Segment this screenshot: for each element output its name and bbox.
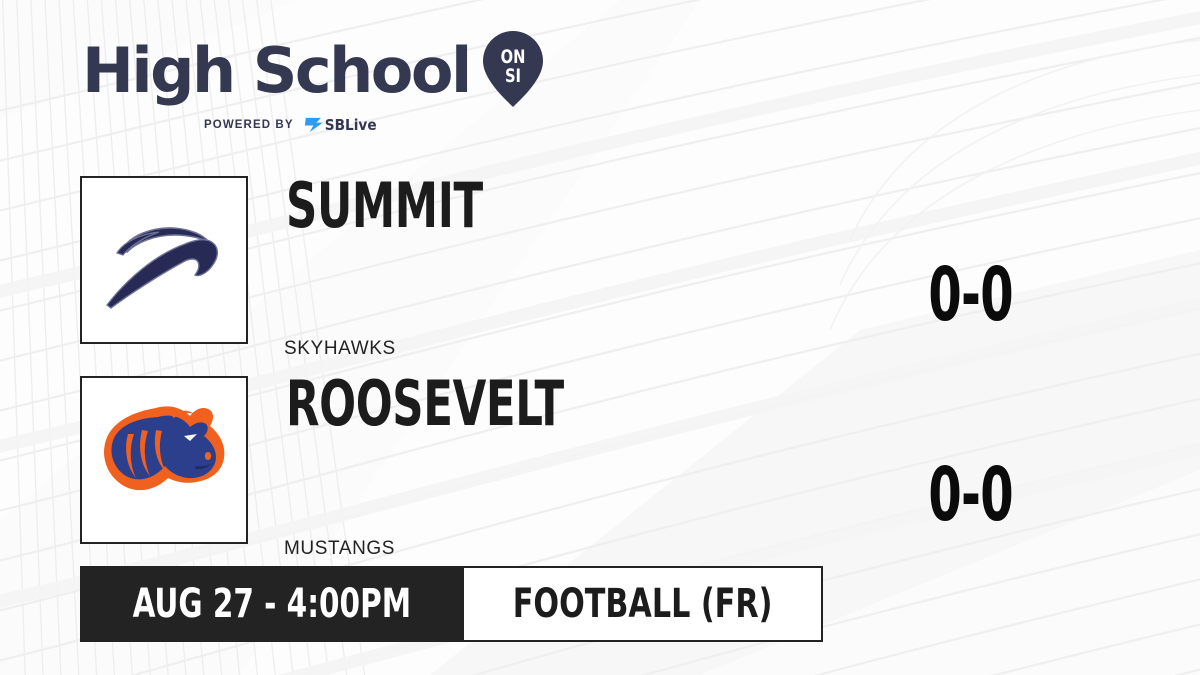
team-record-home: 0-0 — [928, 258, 1012, 332]
game-datetime-block: AUG 27 - 4:00PM — [80, 566, 464, 642]
team-name-home: SUMMIT — [286, 175, 483, 237]
team-mascot-home: SKYHAWKS — [284, 338, 396, 360]
mustang-logo-icon — [98, 400, 230, 520]
powered-by-row: POWERED BY SBLive — [204, 115, 544, 134]
brand-title: High School — [82, 41, 470, 102]
game-datetime-text: AUG 27 - 4:00PM — [133, 581, 412, 627]
team-name-away: ROOSEVELT — [286, 373, 564, 435]
powered-by-label: POWERED BY — [204, 119, 294, 131]
game-sport-block: FOOTBALL (FR) — [464, 566, 823, 642]
sblive-logo: SBLive — [302, 115, 408, 134]
brand-header: High School ON SI POWERED BY SBLive — [82, 34, 544, 134]
team-record-away: 0-0 — [928, 458, 1012, 532]
on-si-pin-icon: ON SI — [482, 30, 544, 108]
team-mascot-away: MUSTANGS — [284, 538, 395, 560]
pin-label-bottom: SI — [505, 66, 521, 87]
skyhawk-logo-icon — [99, 205, 229, 315]
team-logo-mustang — [80, 376, 248, 544]
matchup-graphic: High School ON SI POWERED BY SBLive — [0, 0, 1200, 675]
game-sport-text: FOOTBALL (FR) — [512, 581, 772, 627]
game-info-bar: AUG 27 - 4:00PM FOOTBALL (FR) — [80, 566, 823, 642]
sblive-wordmark: SBLive — [324, 116, 376, 134]
team-logo-skyhawk — [80, 176, 248, 344]
